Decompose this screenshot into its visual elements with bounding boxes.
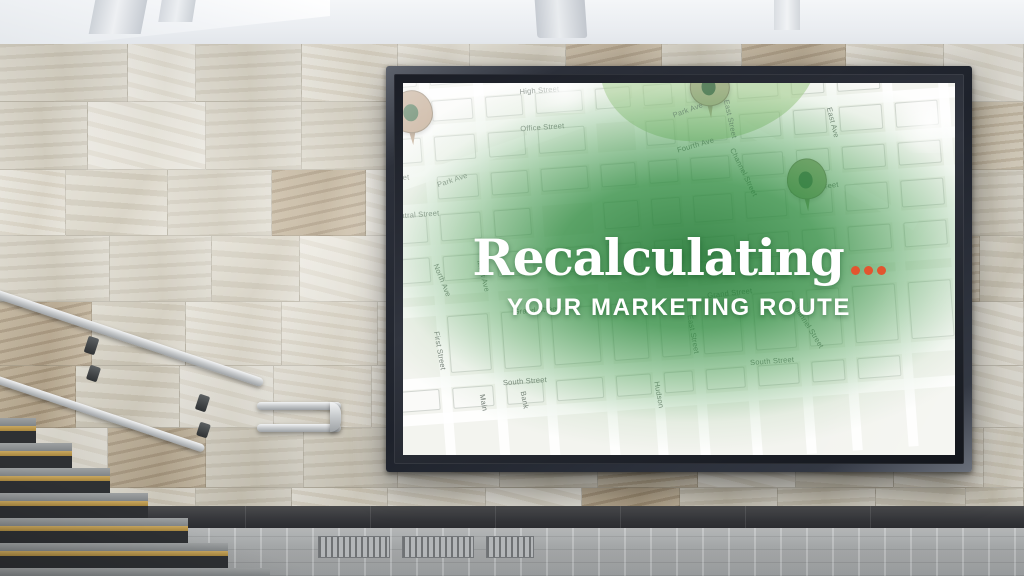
ceiling-beam [535,0,588,38]
wall-tile [980,236,1024,302]
stair-step [0,568,270,576]
map-block [603,200,640,229]
map-block [493,208,532,238]
map-block [747,231,790,259]
wall-tile [88,102,206,170]
wall-tile [272,170,366,236]
wall-tile [66,170,168,236]
map-block [654,239,685,266]
staircase [0,418,300,576]
wall-tile [304,428,398,488]
map-block [540,166,589,192]
map-block [431,98,473,122]
wall-tile [302,44,398,102]
floor-drain-grate [318,536,390,558]
wall-tile [302,102,398,170]
wall-tile [196,44,302,102]
map-block [651,197,682,226]
map-block [658,299,691,358]
stair-step [0,493,148,506]
map-block [610,302,649,361]
map-block [615,374,651,398]
map-block [439,212,482,242]
wall-tile [212,236,300,302]
wall-tile [110,236,212,302]
map-block [550,306,601,366]
map-block [838,104,883,132]
billboard[interactable]: West AveWest AveHigh StreetHigh StreetOf… [386,66,972,472]
map-block [841,144,886,170]
map-block [600,162,637,188]
wall-tile [168,170,272,236]
map-graphic: West AveWest AveHigh StreetHigh StreetOf… [403,83,955,455]
pin-central-street-icon [785,158,827,211]
map-block [903,220,948,248]
map-block [485,95,523,119]
map-block [705,367,745,391]
handrail-end [257,424,341,432]
map-block [487,130,526,158]
map-block [894,100,939,128]
wall-tile [0,170,66,236]
map-block [496,250,535,278]
map-block [900,178,945,208]
stair-step [0,418,36,431]
map-block [546,246,595,274]
wall-tile [186,302,282,366]
map-block [695,235,736,263]
map-block [836,83,880,92]
map-block [403,389,440,413]
stair-step [0,443,72,456]
wall-tile [282,302,378,366]
map-block [403,216,428,246]
map-block [700,295,743,355]
stair-step [0,543,228,556]
map-block [851,284,898,344]
map-block [606,242,643,269]
wall-tile [0,236,110,302]
stair-step [0,518,188,531]
map-block [663,371,693,394]
wall-tile [0,44,128,102]
map-block [556,377,604,401]
map-block [847,224,892,252]
wall-tile [0,102,88,170]
ceiling-beam [89,0,148,34]
map-block [907,280,954,340]
map-block [844,182,889,212]
map-block [857,356,901,380]
floor-drain-grate [402,536,474,558]
map-block [897,140,942,166]
ceiling-beam [774,0,800,30]
wall-tile [300,236,400,302]
ceiling-beam [158,0,195,22]
map-block [692,193,733,223]
floor-drain-grate [486,536,534,558]
map-block [811,360,845,383]
map-block [648,159,679,184]
handrail-end [257,402,341,410]
map-block [690,156,731,182]
map-block [433,134,476,162]
billboard-screen[interactable]: West AveWest AveHigh StreetHigh StreetOf… [403,83,955,455]
pin-fourth-ave-icon [688,83,730,117]
map-block [490,170,529,196]
map-block [792,108,827,135]
map-block [447,314,492,374]
map-block [757,363,799,387]
wall-tile [128,44,196,102]
pin-old-street-icon [403,89,433,144]
stair-step [0,468,110,481]
map-block [500,310,541,370]
wall-tile [206,102,302,170]
map-block [752,291,797,351]
map-block [801,228,836,255]
map-rotated-layer: West AveWest AveHigh StreetHigh StreetOf… [403,83,955,455]
wall-tile [984,428,1024,488]
station-scene: West AveWest AveHigh StreetHigh StreetOf… [0,0,1024,576]
map-block [403,258,431,286]
